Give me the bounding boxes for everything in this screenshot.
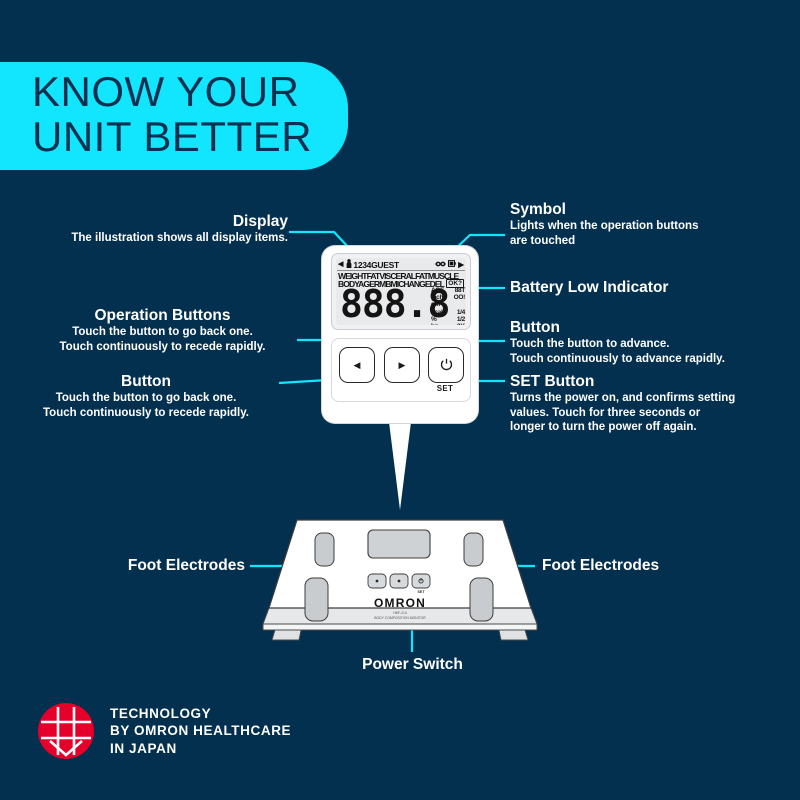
lcd-unit-right: 1/2 bbox=[457, 316, 465, 323]
callout-battery-low-title: Battery Low Indicator bbox=[510, 278, 780, 297]
callout-button-left-body-1: Touch the button to go back one. bbox=[15, 391, 277, 406]
lcd-unit-row: kcal 1/4 bbox=[431, 309, 465, 316]
scale-bottom-lip bbox=[263, 624, 537, 630]
lcd-unit-left: AGE bbox=[431, 287, 444, 294]
callout-pointer-triangle bbox=[389, 422, 411, 510]
person-icon bbox=[346, 259, 352, 270]
callout-set-button-body-2: values. Touch for three seconds or bbox=[510, 406, 790, 421]
callout-power-switch: Power Switch bbox=[310, 655, 515, 674]
right-arrow-icon: ▶ bbox=[399, 360, 406, 371]
scale-side-edge bbox=[263, 608, 537, 624]
foot-electrode-bottom-right bbox=[470, 578, 493, 621]
callout-symbol-body-2: are touched bbox=[510, 234, 780, 249]
lcd-unit-row: AGE 88T bbox=[431, 287, 465, 294]
symbol-icon bbox=[435, 260, 446, 270]
set-power-button[interactable] bbox=[428, 347, 464, 383]
scale-foot-right bbox=[499, 630, 528, 640]
lcd-unit-right: 1/4 bbox=[457, 309, 465, 316]
lcd-arrow-left-icon: ◀ bbox=[338, 261, 343, 268]
lcd-unit-right: 88T bbox=[455, 287, 465, 294]
foot-electrode-bottom-left bbox=[305, 578, 328, 621]
callout-foot-electrodes-left: Foot Electrodes bbox=[60, 556, 245, 575]
lcd-screen: ◀ 1234GUEST ▶ WEIGHTFATVISCERALFATMU bbox=[336, 258, 466, 325]
lcd-arrow-right-icon: ▶ bbox=[458, 261, 464, 269]
lcd-unit-left: kg bbox=[431, 323, 438, 325]
callout-operation-buttons: Operation Buttons Touch the button to go… bbox=[30, 306, 295, 354]
scale-set-label: SET bbox=[418, 590, 426, 594]
callout-display: Display The illustration shows all displ… bbox=[20, 212, 288, 246]
callout-operation-buttons-body-2: Touch continuously to recede rapidly. bbox=[30, 340, 295, 355]
lcd-user-label: 1234GUEST bbox=[353, 260, 399, 270]
operation-button-panel: ◀ ▶ SET bbox=[331, 338, 471, 402]
callout-set-button-body-1: Turns the power on, and confirms setting bbox=[510, 391, 790, 406]
callout-display-body: The illustration shows all display items… bbox=[20, 231, 288, 246]
foot-electrode-top-right bbox=[464, 533, 483, 566]
footer-line-3: IN JAPAN bbox=[110, 740, 291, 758]
scale-left-arrow-glyph bbox=[376, 580, 379, 583]
callout-operation-buttons-title: Operation Buttons bbox=[30, 306, 295, 325]
left-arrow-icon: ◀ bbox=[354, 360, 361, 371]
right-arrow-button[interactable]: ▶ bbox=[384, 347, 420, 383]
scale-foot-left bbox=[272, 630, 301, 640]
callout-symbol-body-1: Lights when the operation buttons bbox=[510, 219, 780, 234]
scale-right-arrow-glyph bbox=[398, 580, 401, 583]
callout-symbol: Symbol Lights when the operation buttons… bbox=[510, 200, 780, 248]
callout-button-left-title: Button bbox=[15, 372, 277, 391]
callout-power-switch-title: Power Switch bbox=[310, 655, 515, 674]
callout-foot-electrodes-left-title: Foot Electrodes bbox=[60, 556, 245, 575]
callout-button-left: Button Touch the button to go back one. … bbox=[15, 372, 277, 420]
lcd-top-row: ◀ 1234GUEST ▶ bbox=[338, 259, 464, 270]
title-line-1: KNOW YOUR bbox=[32, 69, 348, 114]
lcd-bezel: ◀ 1234GUEST ▶ WEIGHTFATVISCERALFATMU bbox=[331, 253, 471, 330]
lcd-unit-left: inch bbox=[431, 294, 443, 301]
callout-set-button-title: SET Button bbox=[510, 372, 790, 391]
lcd-unit-left: cm bbox=[431, 301, 440, 308]
display-unit: ◀ 1234GUEST ▶ WEIGHTFATVISCERALFATMU bbox=[322, 246, 478, 423]
body-composition-scale: SET OMRON HBF-214 BODY COMPOSITION MONIT… bbox=[255, 512, 545, 648]
lcd-units-column: AGE 88T inch OO! cm kcal 1/4 bbox=[431, 287, 465, 325]
lcd-unit-left: kcal bbox=[431, 309, 442, 316]
foot-electrode-top-left bbox=[315, 533, 334, 566]
callout-symbol-title: Symbol bbox=[510, 200, 780, 219]
infographic-canvas: KNOW YOUR UNIT BETTER bbox=[0, 0, 800, 800]
page-title: KNOW YOUR UNIT BETTER bbox=[32, 69, 348, 159]
callout-button-right-body-2: Touch continuously to advance rapidly. bbox=[510, 352, 790, 367]
lcd-unit-right: 3/4 bbox=[457, 323, 465, 325]
title-banner: KNOW YOUR UNIT BETTER bbox=[0, 62, 348, 170]
power-icon bbox=[440, 358, 453, 373]
footer-branding: TECHNOLOGY BY OMRON HEALTHCARE IN JAPAN bbox=[38, 703, 291, 759]
lcd-unit-row: % 1/2 bbox=[431, 316, 465, 323]
footer-text: TECHNOLOGY BY OMRON HEALTHCARE IN JAPAN bbox=[110, 705, 291, 758]
battery-low-icon bbox=[448, 260, 456, 269]
lcd-unit-row: inch OO! bbox=[431, 294, 465, 301]
callout-button-right-body-1: Touch the button to advance. bbox=[510, 337, 790, 352]
set-button-label: SET bbox=[428, 384, 462, 393]
callout-button-right: Button Touch the button to advance. Touc… bbox=[510, 318, 790, 366]
callout-set-button: SET Button Turns the power on, and confi… bbox=[510, 372, 790, 435]
callout-foot-electrodes-right-title: Foot Electrodes bbox=[542, 556, 752, 575]
callout-operation-buttons-body-1: Touch the button to go back one. bbox=[30, 325, 295, 340]
callout-foot-electrodes-right: Foot Electrodes bbox=[542, 556, 752, 575]
left-arrow-button[interactable]: ◀ bbox=[339, 347, 375, 383]
scale-display-window bbox=[368, 530, 430, 558]
lcd-unit-row: cm bbox=[431, 301, 465, 308]
lcd-unit-left: % bbox=[431, 316, 436, 323]
title-line-2: UNIT BETTER bbox=[32, 114, 348, 159]
callout-set-button-body-3: longer to turn the power off again. bbox=[510, 420, 790, 435]
callout-display-title: Display bbox=[20, 212, 288, 231]
lcd-unit-right: OO! bbox=[454, 294, 465, 301]
lcd-unit-row: kg 3/4 bbox=[431, 323, 465, 325]
callout-battery-low: Battery Low Indicator bbox=[510, 278, 780, 297]
footer-line-1: TECHNOLOGY bbox=[110, 705, 291, 723]
callout-button-right-title: Button bbox=[510, 318, 790, 337]
footer-line-2: BY OMRON HEALTHCARE bbox=[110, 722, 291, 740]
callout-button-left-body-2: Touch continuously to recede rapidly. bbox=[15, 406, 277, 421]
omron-japan-logo bbox=[38, 703, 94, 759]
